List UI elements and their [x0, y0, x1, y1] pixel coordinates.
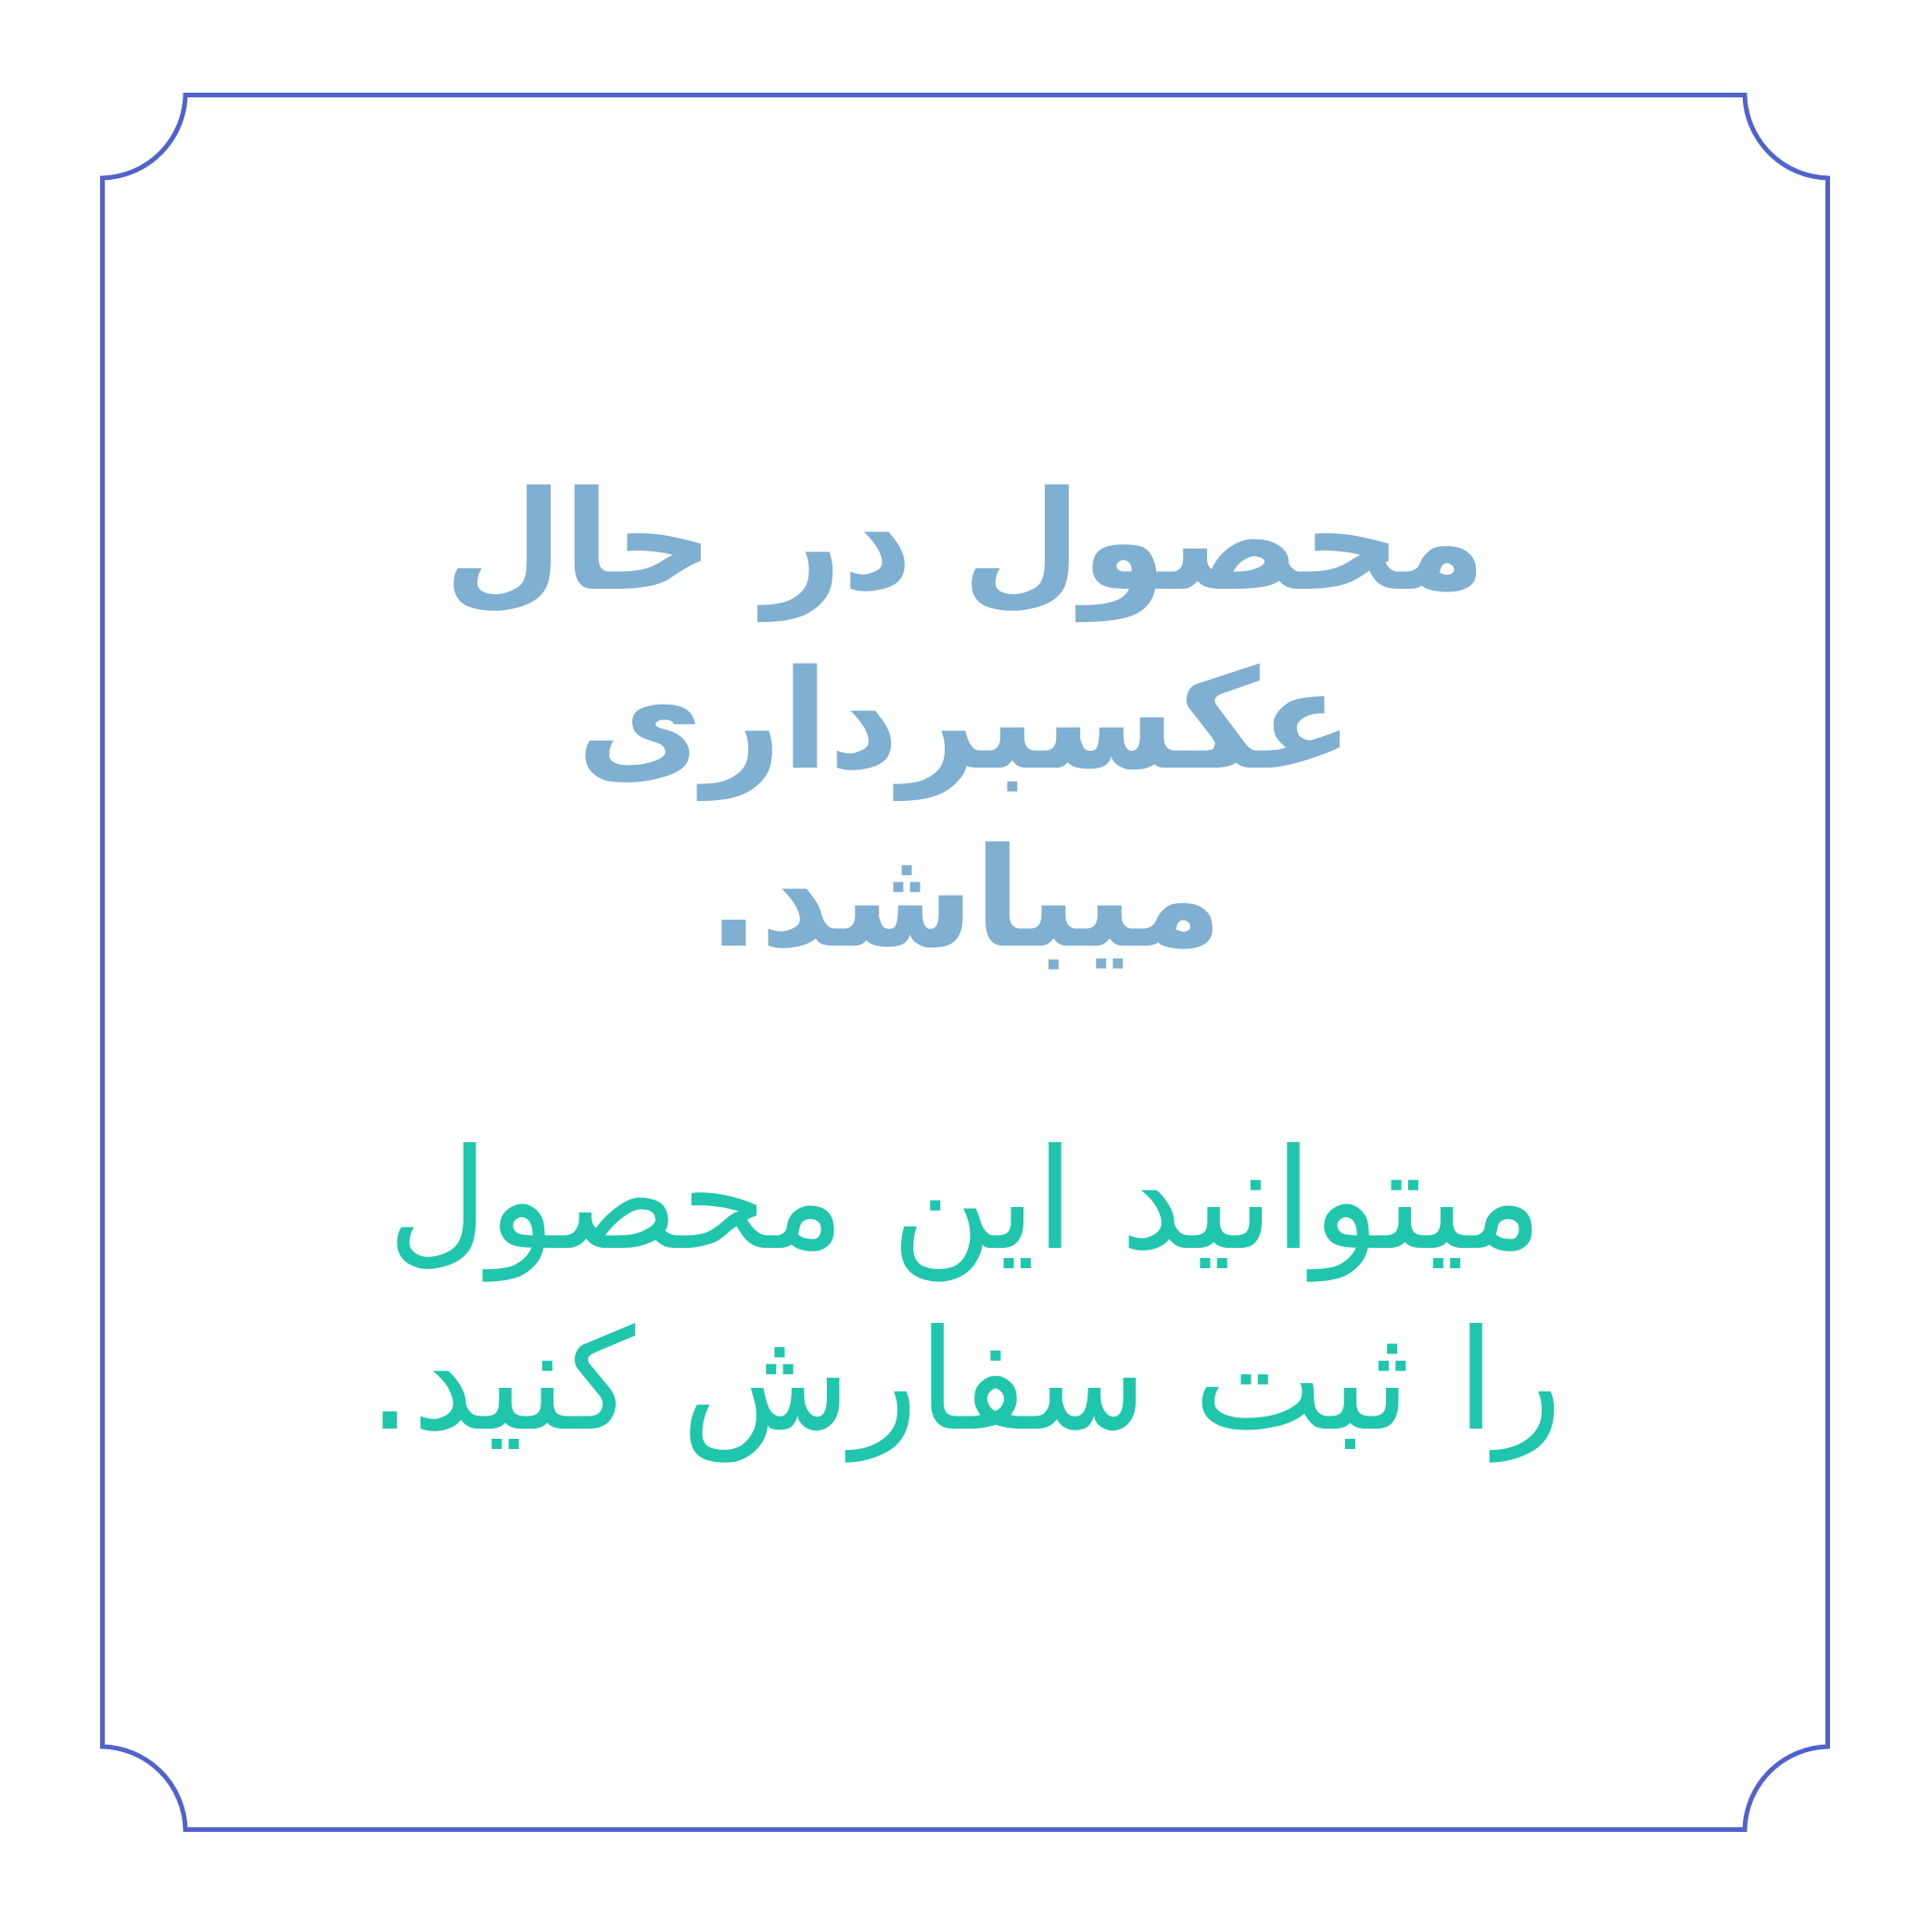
message-block: محصول در حال عکسبرداری میباشد. میتوانید …: [100, 93, 1830, 1832]
status-message-line-2: عکسبرداری میباشد.: [344, 631, 1586, 988]
order-message-line-2: را ثبت سفارش کنید.: [344, 1291, 1586, 1472]
order-message: میتوانید این محصول را ثبت سفارش کنید.: [344, 1111, 1586, 1472]
status-message: محصول در حال عکسبرداری میباشد.: [344, 452, 1586, 987]
order-message-line-1: میتوانید این محصول: [344, 1111, 1586, 1291]
product-photography-placeholder-card: محصول در حال عکسبرداری میباشد. میتوانید …: [0, 0, 1932, 1932]
status-message-line-1: محصول در حال: [344, 452, 1586, 630]
